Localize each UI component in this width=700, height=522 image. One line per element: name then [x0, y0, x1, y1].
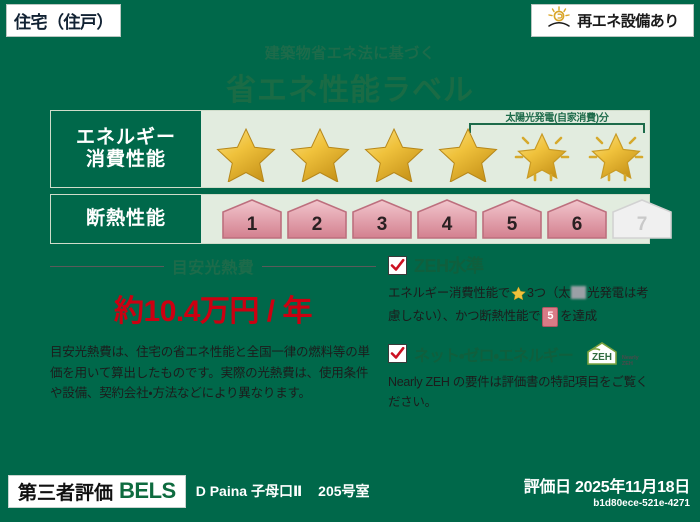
star-icon: [511, 289, 526, 303]
insulation-level-3-number: 3: [351, 214, 413, 236]
energy-performance-label: 住宅（住戸） 再エネ設備あり 建築物省エネ法に基づく 省エネ性能ラベル: [0, 0, 700, 522]
house-type-tag: 住宅（住戸）: [6, 4, 121, 37]
insulation-level-badge: 5: [542, 307, 558, 327]
criteria-column: ZEH水準 エネルギー消費性能で3つ（太光発電は考慮しない）、かつ断熱性能で5を…: [382, 252, 650, 420]
cost-note-text: 目安光熱費は、住宅の省エネ性能と全国一律の燃料等の単価を用いて算出したものです。…: [50, 342, 376, 404]
zeh-standard-description: エネルギー消費性能で3つ（太光発電は考慮しない）、かつ断熱性能で5を達成: [388, 283, 650, 327]
zeh-desc-part1: エネルギー消費性能で: [388, 286, 510, 300]
zeh-logo-icon: ZEH Nearly ZEH: [584, 341, 639, 367]
zeh-logo-subtext: Nearly ZEH: [622, 355, 639, 367]
energy-label-line1: エネルギー: [76, 127, 176, 149]
cost-heading-label: 目安光熱費: [172, 254, 255, 278]
insulation-level-1: 1: [221, 198, 283, 240]
checkmark-icon: [388, 256, 407, 275]
estimated-cost-value: 約10.4万円 / 年: [50, 286, 376, 330]
bels-jp-label: 第三者評価: [18, 478, 113, 505]
cost-column: 目安光熱費 約10.4万円 / 年 目安光熱費は、住宅の省エネ性能と全国一律の燃…: [50, 252, 382, 420]
title-block: 建築物省エネ法に基づく 省エネ性能ラベル: [0, 42, 700, 109]
insulation-level-4: 4: [416, 198, 478, 240]
zeh-desc-part4: を達成: [560, 309, 597, 323]
zeh-logo-sub2: ZEH: [622, 361, 633, 367]
insulation-level-5: 5: [481, 198, 543, 240]
insulation-level-3: 3: [351, 198, 413, 240]
insulation-label: 断熱性能: [86, 208, 166, 230]
zeh-desc-part2: 3つ（太: [527, 286, 570, 300]
house-type-label: 住宅（住戸）: [14, 8, 113, 33]
lower-section: 目安光熱費 約10.4万円 / 年 目安光熱費は、住宅の省エネ性能と全国一律の燃…: [50, 252, 650, 420]
star-filled-3: [359, 120, 431, 184]
evaluation-block: 評価日 2025年11月18日 b1d80ece-521e-4271: [524, 473, 690, 509]
checkmark-icon: [388, 344, 407, 363]
insulation-rating-body: 1 2 3: [201, 195, 673, 243]
net-zero-energy-title: ネット・ゼロ・エネルギー: [414, 342, 573, 366]
room-number: 205号室: [318, 481, 369, 501]
star-solar-6: [581, 120, 653, 184]
redacted-character: [571, 286, 586, 299]
insulation-level-5-number: 5: [481, 214, 543, 236]
cost-rule-left: [50, 266, 164, 267]
energy-label-line2: 消費性能: [86, 149, 166, 171]
footer-bar: 第三者評価 BELS D Paina 子母口Ⅱ 205号室 評価日 2025年1…: [0, 460, 700, 522]
zeh-standard-check-row: ZEH水準: [388, 252, 650, 278]
svg-text:ZEH: ZEH: [592, 352, 612, 363]
insulation-level-group: 1 2 3: [201, 198, 673, 240]
net-zero-energy-check-row: ネット・ゼロ・エネルギー ZEH Nearly ZEH: [388, 341, 650, 367]
star-filled-2: [285, 120, 357, 184]
energy-performance-row: エネルギー 消費性能 太陽光発電(自家消費)分: [50, 110, 650, 188]
insulation-level-2-number: 2: [286, 214, 348, 236]
cost-heading: 目安光熱費: [50, 254, 376, 278]
building-name: D Paina 子母口Ⅱ: [196, 481, 302, 501]
bels-badge: 第三者評価 BELS: [8, 475, 186, 508]
energy-rating-body: 太陽光発電(自家消費)分: [201, 111, 653, 187]
star-filled-1: [211, 120, 283, 184]
insulation-performance-row: 断熱性能 1: [50, 194, 650, 244]
insulation-level-6: 6: [546, 198, 608, 240]
insulation-level-1-number: 1: [221, 214, 283, 236]
title-subtitle: 建築物省エネ法に基づく: [0, 42, 700, 63]
sun-icon: [546, 6, 572, 35]
insulation-level-6-number: 6: [546, 214, 608, 236]
star-filled-4: [433, 120, 505, 184]
insulation-label-box: 断熱性能: [51, 195, 201, 243]
net-zero-energy-description: Nearly ZEH の要件は評価書の特記項目をご覧ください。: [388, 372, 650, 412]
insulation-level-7: 7: [611, 198, 673, 240]
star-rating-group: [201, 114, 653, 184]
renewable-badge-label: 再エネ設備あり: [577, 10, 679, 31]
cost-rule-right: [262, 266, 376, 267]
insulation-level-7-number: 7: [611, 214, 673, 236]
evaluation-id: b1d80ece-521e-4271: [524, 498, 690, 509]
zeh-standard-title: ZEH水準: [414, 252, 484, 278]
evaluation-date: 評価日 2025年11月18日: [524, 473, 690, 497]
renewable-equipment-badge: 再エネ設備あり: [531, 4, 694, 37]
label-content: エネルギー 消費性能 太陽光発電(自家消費)分: [40, 100, 660, 455]
bels-en-label: BELS: [119, 478, 176, 504]
insulation-level-4-number: 4: [416, 214, 478, 236]
star-solar-5: [507, 120, 579, 184]
insulation-level-2: 2: [286, 198, 348, 240]
energy-performance-label-box: エネルギー 消費性能: [51, 111, 201, 187]
